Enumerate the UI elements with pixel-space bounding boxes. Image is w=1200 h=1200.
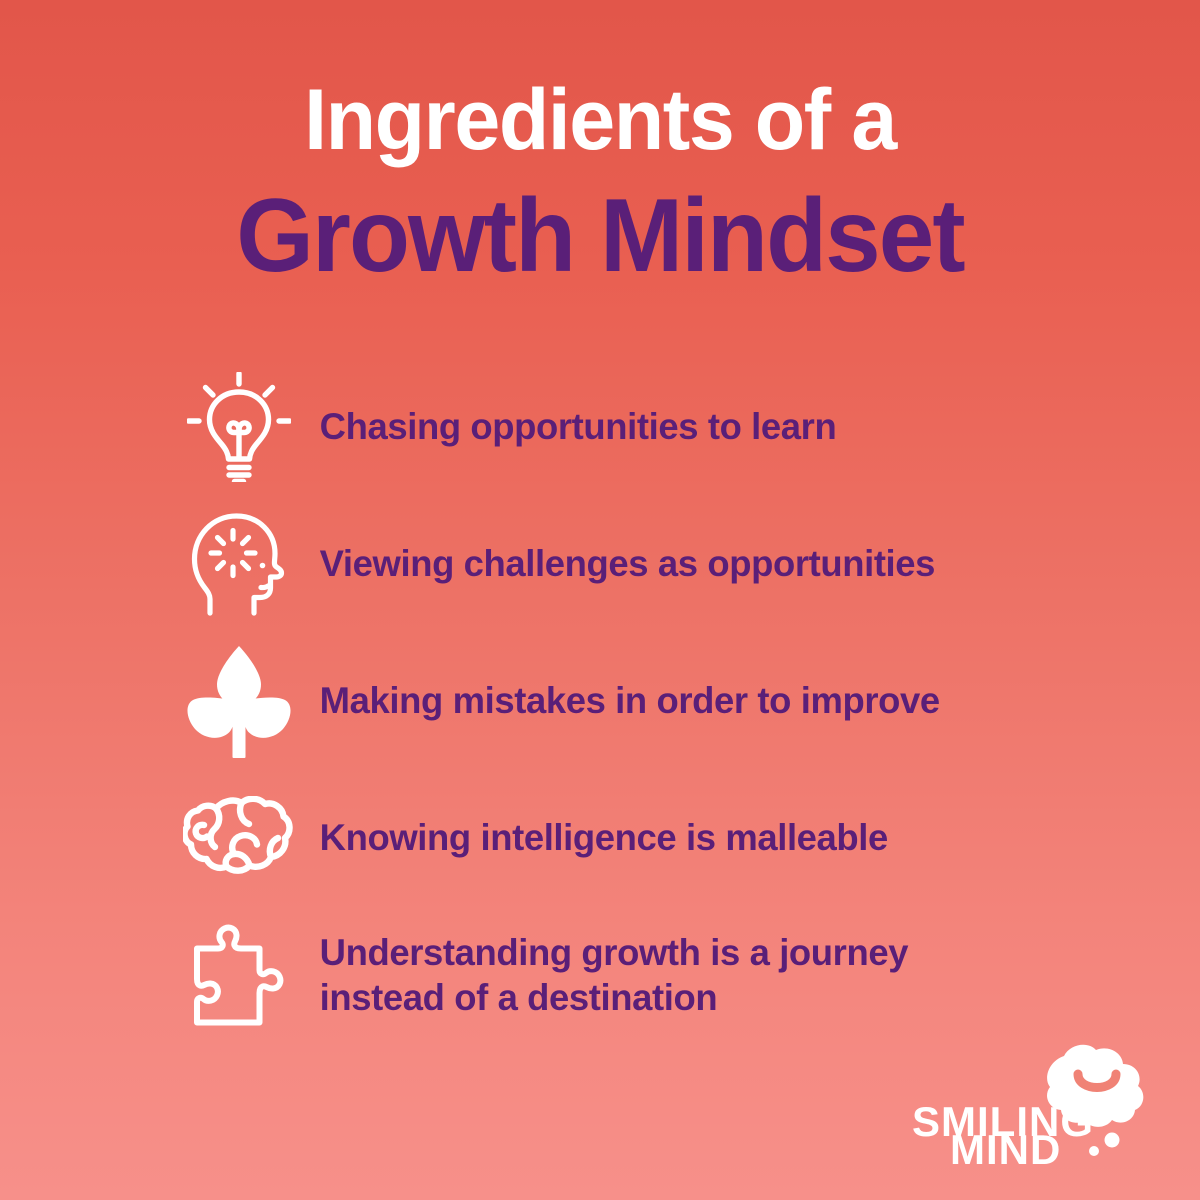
smiling-mind-logo[interactable]: SMILING MIND (912, 1036, 1162, 1166)
poster-canvas: Ingredients of a Growth Mindset (0, 0, 1200, 1200)
list-item-label: Viewing challenges as opportunities (298, 541, 935, 587)
list-item: Chasing opportunities to learn (180, 372, 1080, 482)
list-item-label: Making mistakes in order to improve (298, 678, 940, 724)
title-block: Ingredients of a Growth Mindset (0, 78, 1200, 288)
list-item-label: Understanding growth is a journey instea… (298, 930, 908, 1021)
list-item-label: Chasing opportunities to learn (298, 404, 836, 450)
head-with-idea-burst-icon (180, 509, 298, 619)
sprout-plant-icon (180, 646, 298, 756)
logo-wordmark-line-2: MIND (950, 1126, 1061, 1166)
ingredients-list: Chasing opportunities to learn (180, 372, 1080, 1030)
page-title-line-1: Ingredients of a (24, 78, 1176, 162)
lightbulb-icon (180, 372, 298, 482)
puzzle-piece-icon (180, 920, 298, 1030)
page-title-line-2: Growth Mindset (24, 184, 1176, 288)
list-item: Making mistakes in order to improve (180, 646, 1080, 756)
list-item-label: Knowing intelligence is malleable (298, 815, 888, 861)
list-item: Viewing challenges as opportunities (180, 509, 1080, 619)
brain-icon (180, 783, 298, 893)
list-item: Knowing intelligence is malleable (180, 783, 1080, 893)
list-item: Understanding growth is a journey instea… (180, 920, 1080, 1030)
